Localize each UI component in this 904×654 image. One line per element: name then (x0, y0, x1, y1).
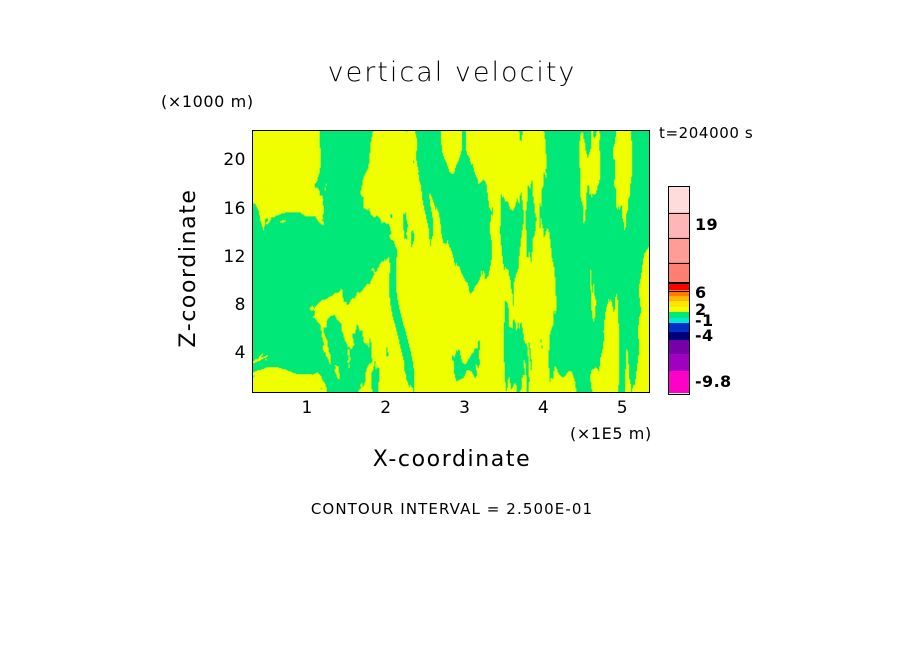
y-tick-label: 16 (206, 199, 246, 219)
colorbar-band (669, 212, 689, 237)
x-tick-label: 4 (524, 398, 564, 418)
colorbar-tick-label: 19 (695, 215, 718, 234)
y-tick-label: 4 (206, 343, 246, 363)
colorbar-separator (668, 238, 690, 240)
y-tick-label: 20 (206, 150, 246, 170)
colorbar-separator (668, 263, 690, 265)
time-annotation: t=204000 s (659, 124, 753, 142)
colorbar-tick-label: -9.8 (695, 372, 732, 391)
colorbar-separator (668, 291, 690, 293)
x-axis-ticks: 12345 (252, 396, 650, 422)
y-tick-label: 12 (206, 247, 246, 267)
colorbar-tick-label: -4 (695, 326, 714, 345)
colorbar-band (669, 262, 689, 281)
velocity-field (253, 131, 649, 392)
y-tick-label: 8 (206, 295, 246, 315)
x-axis-title: X-coordinate (0, 447, 904, 472)
y-axis-unit-label: (×1000 m) (161, 92, 254, 111)
x-tick-label: 2 (366, 398, 406, 418)
colorbar-band (669, 187, 689, 212)
figure-canvas: vertical velocity (×1000 m) t=204000 s Z… (0, 0, 904, 654)
page-title: vertical velocity (0, 57, 904, 88)
colorbar-band (669, 354, 689, 371)
colorbar-band (669, 371, 689, 393)
x-tick-label: 3 (445, 398, 485, 418)
colorbar-band (669, 332, 689, 340)
contour-plot-area (252, 130, 650, 393)
colorbar-separator (668, 213, 690, 215)
colorbar-band (669, 323, 689, 331)
colorbar-separator (668, 282, 690, 284)
colorbar-band (669, 340, 689, 354)
y-axis-title: Z-coordinate (176, 168, 201, 368)
y-axis-ticks: 20161284 (206, 130, 246, 393)
x-tick-label: 1 (287, 398, 327, 418)
x-axis-unit-label: (×1E5 m) (570, 424, 652, 443)
contour-interval-label: CONTOUR INTERVAL = 2.500E-01 (0, 500, 904, 518)
x-tick-label: 5 (602, 398, 642, 418)
colorbar-band (669, 237, 689, 262)
